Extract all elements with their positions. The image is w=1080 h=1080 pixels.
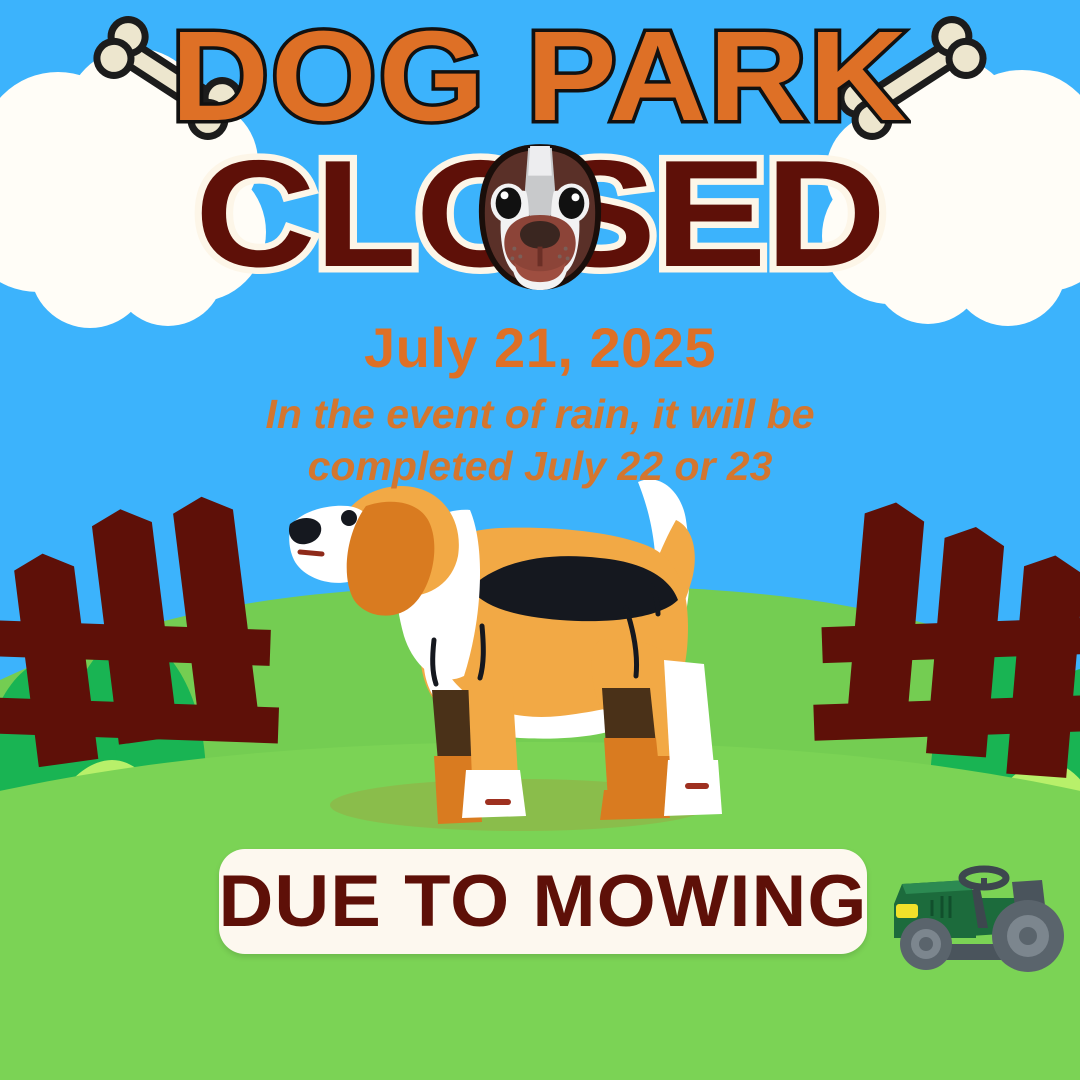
dog-front-paw-front [462, 770, 526, 818]
dog-rear-leg-near [602, 688, 656, 746]
banner-label: DUE TO MOWING [219, 865, 868, 938]
dog-rear-leg-white [664, 660, 714, 766]
dog-front-leg-front [468, 678, 518, 778]
due-to-mowing-banner: DUE TO MOWING [219, 849, 867, 954]
riding-lawn-mower-icon [880, 836, 1080, 976]
dog-eye [341, 510, 357, 526]
dog-park-closed-poster: DOG PARK CLOSED [0, 0, 1080, 1080]
dog-rear-paw-near [600, 790, 670, 820]
dog-mouth [300, 552, 322, 554]
